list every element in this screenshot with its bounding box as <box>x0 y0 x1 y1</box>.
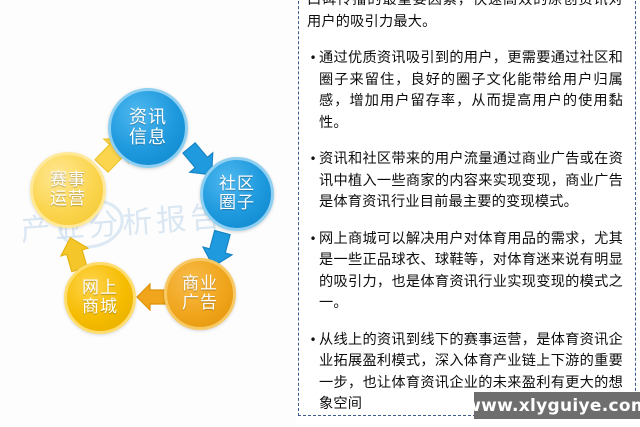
node-ads[interactable]: 商业 广告 <box>164 258 236 330</box>
paragraph-2-text: 资讯和社区带来的用户流量通过商业广告或在资讯中植入一些商家的内容来实现变现，商业… <box>319 149 623 214</box>
node-ads-line2: 广告 <box>182 294 218 313</box>
node-community-line2: 圈子 <box>219 194 255 213</box>
arrow-ads-to-mall <box>134 280 168 314</box>
bullet-icon: • <box>307 149 319 170</box>
node-info-line2: 信息 <box>129 128 167 148</box>
site-watermark: www.xlyguiye.com <box>474 392 640 419</box>
paragraph-1-text: 通过优质资讯吸引到的用户，更需要通过社区和圈子来留住，良好的圈子文化能带给用户归… <box>319 48 623 134</box>
paragraph-3: • 网上商城可以解决用户对体育用品的需求，尤其是一些正品球衣、球鞋等，对体育迷来… <box>307 229 623 315</box>
node-ads-line1: 商业 <box>182 275 218 294</box>
node-community[interactable]: 社区 圈子 <box>200 157 274 231</box>
node-mall-line1: 网上 <box>82 279 118 298</box>
node-events[interactable]: 赛事 运营 <box>30 152 106 228</box>
text-panel: • 口碑传播的最重要因素，快速高效的原创资讯对用户的吸引力最大。 • 通过优质资… <box>298 0 636 416</box>
node-events-line2: 运营 <box>50 190 86 209</box>
site-watermark-label: www.xlyguiye.com <box>465 396 640 416</box>
paragraph-1: • 通过优质资讯吸引到的用户，更需要通过社区和圈子来留住，良好的圈子文化能带给用… <box>307 48 623 134</box>
bullet-icon: • <box>307 330 319 351</box>
node-events-line1: 赛事 <box>50 171 86 190</box>
node-mall-line2: 商城 <box>82 298 118 317</box>
node-info-line1: 资讯 <box>129 108 167 128</box>
bullet-icon: • <box>307 229 319 250</box>
paragraph-0-text: 口碑传播的最重要因素，快速高效的原创资讯对用户的吸引力最大。 <box>307 0 623 33</box>
page-root: 产业分析报告 资 <box>0 0 640 427</box>
node-info[interactable]: 资讯 信息 <box>108 88 188 168</box>
paragraph-0: • 口碑传播的最重要因素，快速高效的原创资讯对用户的吸引力最大。 <box>307 0 623 33</box>
paragraph-3-text: 网上商城可以解决用户对体育用品的需求，尤其是一些正品球衣、球鞋等，对体育迷来说有… <box>319 229 623 315</box>
node-mall[interactable]: 网上 商城 <box>64 262 136 334</box>
node-community-line1: 社区 <box>219 175 255 194</box>
paragraph-2: • 资讯和社区带来的用户流量通过商业广告或在资讯中植入一些商家的内容来实现变现，… <box>307 149 623 214</box>
cycle-diagram: 产业分析报告 资 <box>0 0 296 427</box>
bullet-icon: • <box>307 48 319 69</box>
